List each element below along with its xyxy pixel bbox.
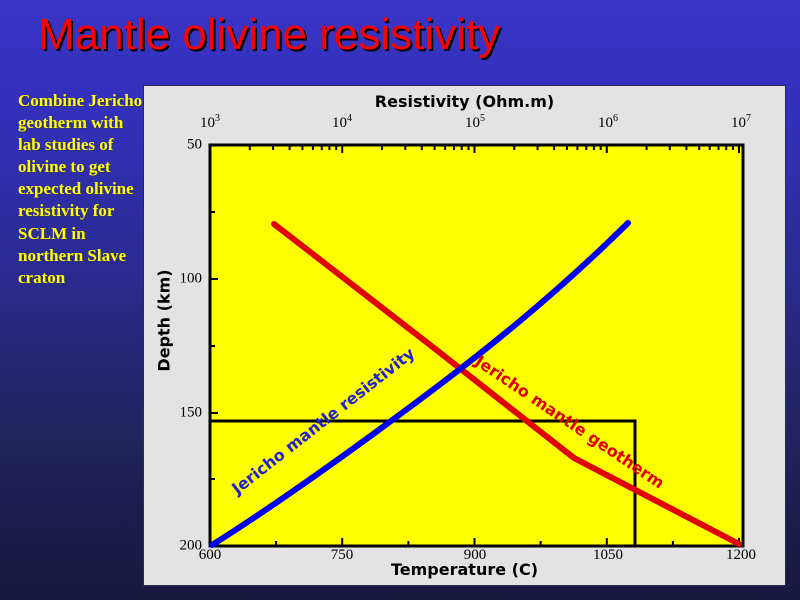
plot-canvas: [144, 86, 787, 587]
figure-panel: Resistivity (Ohm.m) Temperature (C) Dept…: [143, 85, 786, 586]
plot-area-fill: [210, 145, 743, 546]
page-title: Mantle olivine resistivity: [38, 12, 500, 58]
slide-body-text: Combine Jericho geotherm with lab studie…: [18, 90, 146, 289]
